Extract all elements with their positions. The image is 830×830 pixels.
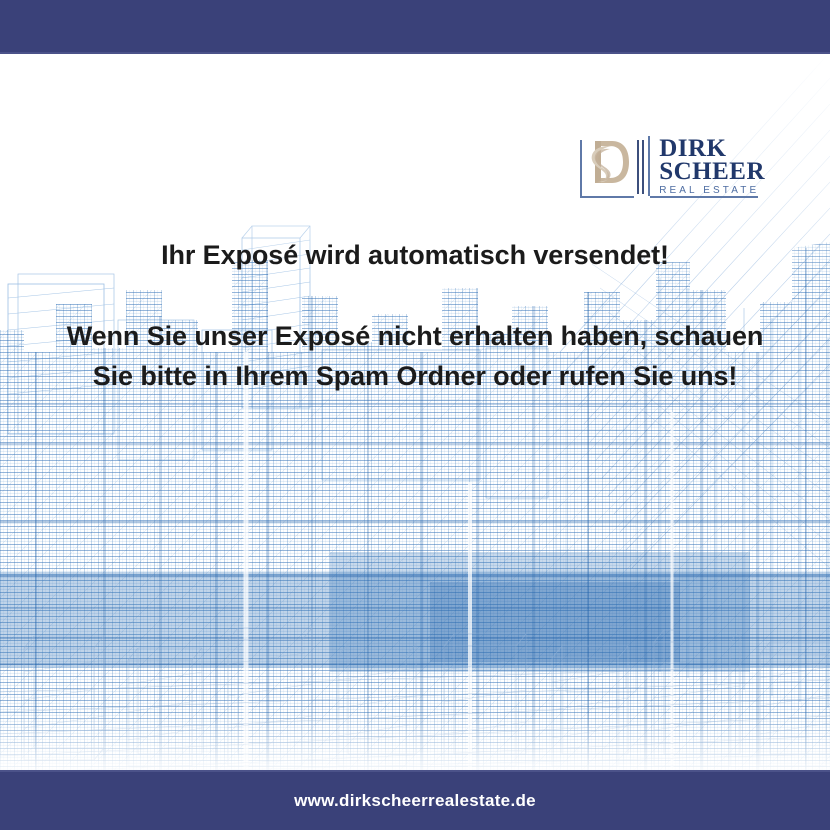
- body-text: Wenn Sie unser Exposé nicht erhalten hab…: [60, 272, 770, 396]
- promo-image-canvas: DIRK SCHEER REAL ESTATE Ihr Exposé wird …: [0, 0, 830, 830]
- logo-monogram-block: [580, 136, 635, 198]
- footer-bar: www.dirkscheerrealestate.de: [0, 770, 830, 830]
- logo-name-line2: SCHEER: [659, 160, 765, 183]
- logo-text-block: DIRK SCHEER REAL ESTATE: [648, 136, 765, 196]
- logo-name-line1: DIRK: [659, 137, 765, 160]
- ds-monogram-icon: [585, 138, 631, 186]
- logo-divider-bars: [635, 136, 649, 196]
- message-block: Ihr Exposé wird automatisch versendet! W…: [60, 238, 770, 396]
- website-url[interactable]: www.dirkscheerrealestate.de: [294, 791, 536, 811]
- headline-text: Ihr Exposé wird automatisch versendet!: [60, 238, 770, 272]
- brand-logo[interactable]: DIRK SCHEER REAL ESTATE: [580, 136, 765, 198]
- top-accent-bar: [0, 0, 830, 54]
- logo-underline-rule: [650, 196, 758, 198]
